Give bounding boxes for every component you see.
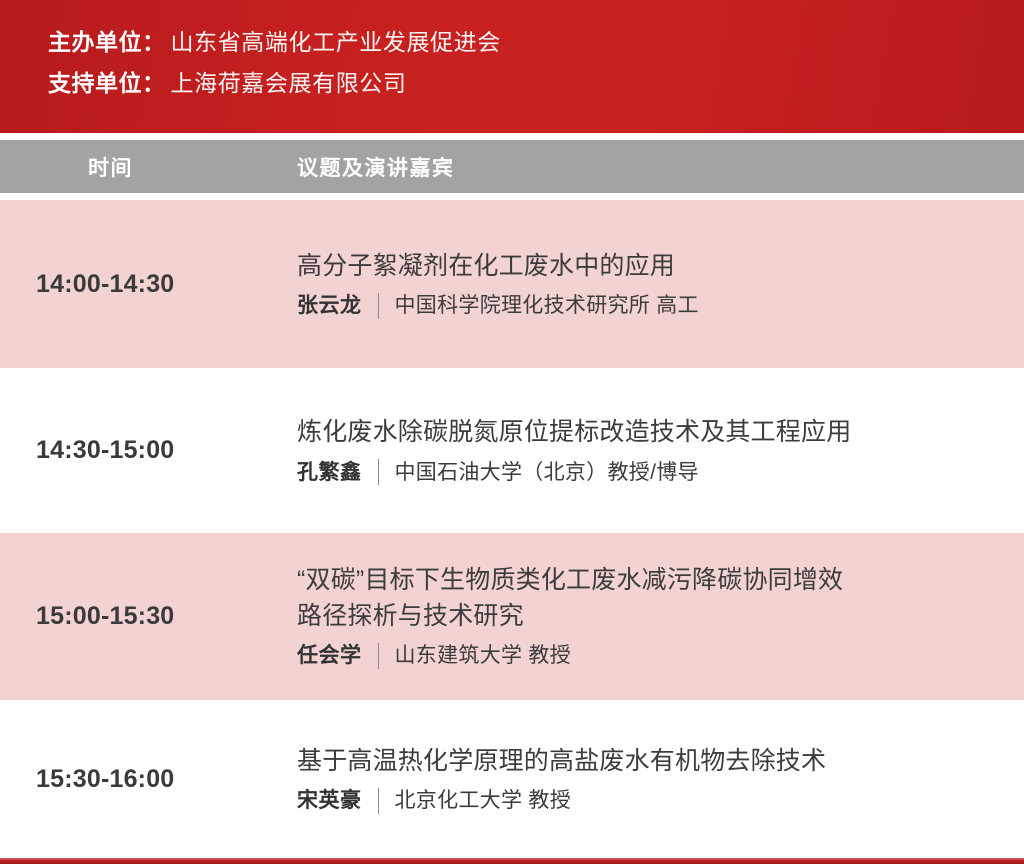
schedule-rows: 14:00-14:30 高分子絮凝剂在化工废水中的应用 张云龙 中国科学院理化技… bbox=[0, 200, 1024, 858]
speaker-separator-icon bbox=[378, 459, 379, 485]
row-body: “双碳”目标下生物质类化工废水减污降碳协同增效 路径探析与技术研究 任会学 山东… bbox=[297, 563, 1024, 669]
row-speaker: 任会学 山东建筑大学 教授 bbox=[297, 642, 994, 669]
row-speaker: 孔繁鑫 中国石油大学（北京）教授/博导 bbox=[297, 459, 994, 486]
supporter-label: 支持单位： bbox=[48, 72, 166, 95]
banner-divider bbox=[0, 133, 1024, 140]
table-row: 14:30-15:00 炼化废水除碳脱氮原位提标改造技术及其工程应用 孔繁鑫 中… bbox=[0, 368, 1024, 533]
speaker-organization: 中国石油大学（北京）教授/博导 bbox=[395, 459, 699, 486]
row-topic-line: 高分子絮凝剂在化工废水中的应用 bbox=[297, 249, 994, 285]
row-topic-line: “双碳”目标下生物质类化工废水减污降碳协同增效 bbox=[297, 563, 994, 599]
row-body: 高分子絮凝剂在化工废水中的应用 张云龙 中国科学院理化技术研究所 高工 bbox=[297, 249, 1024, 320]
organizer-line-host: 主办单位： 山东省高端化工产业发展促进会 bbox=[48, 31, 1024, 54]
host-value: 山东省高端化工产业发展促进会 bbox=[171, 31, 501, 54]
speaker-organization: 山东建筑大学 教授 bbox=[395, 642, 572, 669]
table-row: 14:00-14:30 高分子絮凝剂在化工废水中的应用 张云龙 中国科学院理化技… bbox=[0, 200, 1024, 368]
row-topic-line: 炼化废水除碳脱氮原位提标改造技术及其工程应用 bbox=[297, 415, 994, 451]
column-header-time: 时间 bbox=[88, 152, 133, 182]
speaker-organization: 中国科学院理化技术研究所 高工 bbox=[395, 292, 699, 319]
supporter-value: 上海荷嘉会展有限公司 bbox=[171, 72, 407, 95]
table-row: 15:30-16:00 基于高温热化学原理的高盐废水有机物去除技术 宋英豪 北京… bbox=[0, 700, 1024, 858]
row-body: 炼化废水除碳脱氮原位提标改造技术及其工程应用 孔繁鑫 中国石油大学（北京）教授/… bbox=[297, 415, 1024, 486]
speaker-name: 孔繁鑫 bbox=[297, 459, 362, 486]
header-gap-divider bbox=[0, 193, 1024, 200]
speaker-name: 任会学 bbox=[297, 642, 362, 669]
speaker-name: 宋英豪 bbox=[297, 787, 362, 814]
table-row: 15:00-15:30 “双碳”目标下生物质类化工废水减污降碳协同增效 路径探析… bbox=[0, 533, 1024, 700]
row-time: 15:30-16:00 bbox=[0, 765, 297, 794]
row-speaker: 张云龙 中国科学院理化技术研究所 高工 bbox=[297, 292, 994, 319]
speaker-separator-icon bbox=[378, 293, 379, 319]
host-label: 主办单位： bbox=[48, 31, 166, 54]
organizer-banner: 主办单位： 山东省高端化工产业发展促进会 支持单位： 上海荷嘉会展有限公司 bbox=[0, 0, 1024, 133]
speaker-separator-icon bbox=[378, 643, 379, 669]
speaker-separator-icon bbox=[378, 788, 379, 814]
footer-rule bbox=[0, 858, 1024, 864]
row-time: 14:00-14:30 bbox=[0, 270, 297, 299]
schedule-page: 主办单位： 山东省高端化工产业发展促进会 支持单位： 上海荷嘉会展有限公司 时间… bbox=[0, 0, 1024, 864]
table-column-header: 时间 议题及演讲嘉宾 bbox=[0, 140, 1024, 193]
speaker-organization: 北京化工大学 教授 bbox=[395, 787, 572, 814]
organizer-line-supporter: 支持单位： 上海荷嘉会展有限公司 bbox=[48, 72, 1024, 95]
row-topic-line: 路径探析与技术研究 bbox=[297, 599, 994, 635]
row-body: 基于高温热化学原理的高盐废水有机物去除技术 宋英豪 北京化工大学 教授 bbox=[297, 744, 1024, 815]
row-time: 14:30-15:00 bbox=[0, 436, 297, 465]
row-time: 15:00-15:30 bbox=[0, 602, 297, 631]
row-topic-line: 基于高温热化学原理的高盐废水有机物去除技术 bbox=[297, 744, 994, 780]
speaker-name: 张云龙 bbox=[297, 292, 362, 319]
row-speaker: 宋英豪 北京化工大学 教授 bbox=[297, 787, 994, 814]
column-header-topic: 议题及演讲嘉宾 bbox=[297, 152, 455, 182]
